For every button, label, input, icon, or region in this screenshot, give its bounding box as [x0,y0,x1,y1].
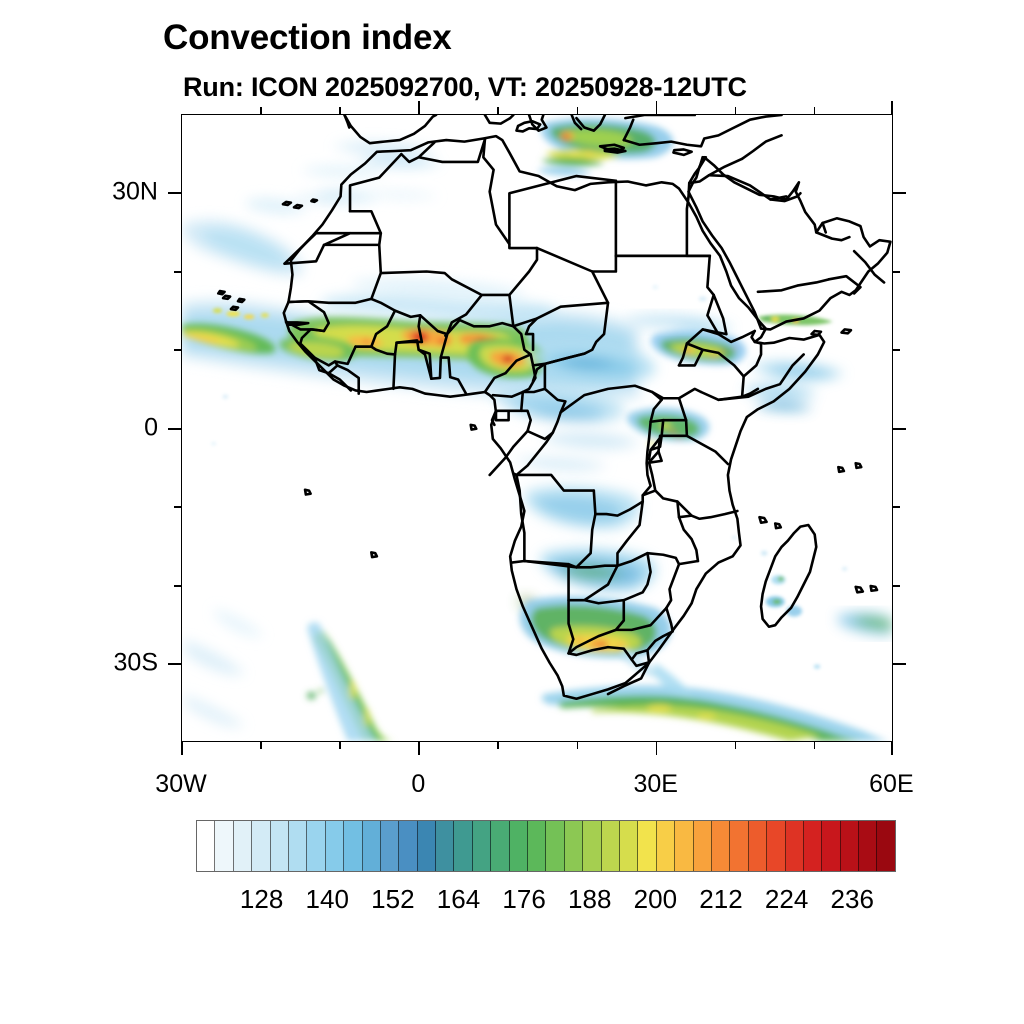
colorbar-cell-14 [454,821,472,871]
chart-subtitle: Run: ICON 2025092700, VT: 20250928-12UTC [183,72,747,103]
colorbar-cell-37 [877,821,894,871]
colorbar-cell-10 [381,821,399,871]
colorbar-cell-23 [620,821,638,871]
y-tick-label-0: 0 [58,414,158,443]
colorbar-tick-label-152: 152 [371,884,414,915]
colorbar-cell-11 [399,821,417,871]
colorbar-cell-21 [583,821,601,871]
colorbar-cell-35 [841,821,859,871]
map-plot-area [181,114,893,742]
colorbar-cell-16 [491,821,509,871]
y-tick-label-30s: 30S [58,649,158,678]
colorbar-cell-25 [657,821,675,871]
colorbar-tick-label-188: 188 [568,884,611,915]
colorbar-cell-22 [602,821,620,871]
colorbar-cell-1 [215,821,233,871]
colorbar-cell-32 [786,821,804,871]
x-tick-label-0: 0 [411,770,425,799]
colorbar-cell-36 [859,821,877,871]
colorbar-cell-28 [712,821,730,871]
colorbar-tick-label-140: 140 [306,884,349,915]
page-title: Convection index [163,18,452,58]
colorbar-cell-30 [749,821,767,871]
colorbar-cell-2 [234,821,252,871]
colorbar-cell-18 [528,821,546,871]
colorbar-cell-20 [565,821,583,871]
y-tick-label-30n: 30N [58,178,158,207]
convection-index-map [182,115,892,741]
x-tick-label-30w: 30W [155,770,206,799]
colorbar-cell-24 [638,821,656,871]
colorbar-cell-31 [767,821,785,871]
colorbar-tick-label-224: 224 [765,884,808,915]
colorbar-tick-label-176: 176 [502,884,545,915]
colorbar-cell-19 [546,821,564,871]
colorbar-cell-26 [675,821,693,871]
colorbar-cell-6 [307,821,325,871]
colorbar-tick-label-236: 236 [831,884,874,915]
colorbar-cell-3 [252,821,270,871]
colorbar-tick-label-164: 164 [437,884,480,915]
convection-field [182,118,892,741]
colorbar-cell-8 [344,821,362,871]
chart-page: Convection index Run: ICON 2025092700, V… [0,0,1024,1024]
x-tick-label-60e: 60E [869,770,913,799]
colorbar-tick-label-128: 128 [240,884,283,915]
colorbar-cell-33 [804,821,822,871]
colorbar-cell-7 [326,821,344,871]
colorbar-cell-4 [271,821,289,871]
colorbar-cell-15 [473,821,491,871]
colorbar-cell-29 [730,821,748,871]
colorbar-cell-27 [694,821,712,871]
x-tick-label-30e: 30E [633,770,677,799]
colorbar-cell-17 [510,821,528,871]
colorbar-tick-label-212: 212 [699,884,742,915]
colorbar-cell-0 [197,821,215,871]
colorbar-cell-34 [822,821,840,871]
colorbar-cell-12 [418,821,436,871]
colorbar-cell-13 [436,821,454,871]
colorbar-cell-5 [289,821,307,871]
colorbar-cell-9 [363,821,381,871]
colorbar-tick-label-200: 200 [634,884,677,915]
colorbar[interactable] [196,820,896,872]
